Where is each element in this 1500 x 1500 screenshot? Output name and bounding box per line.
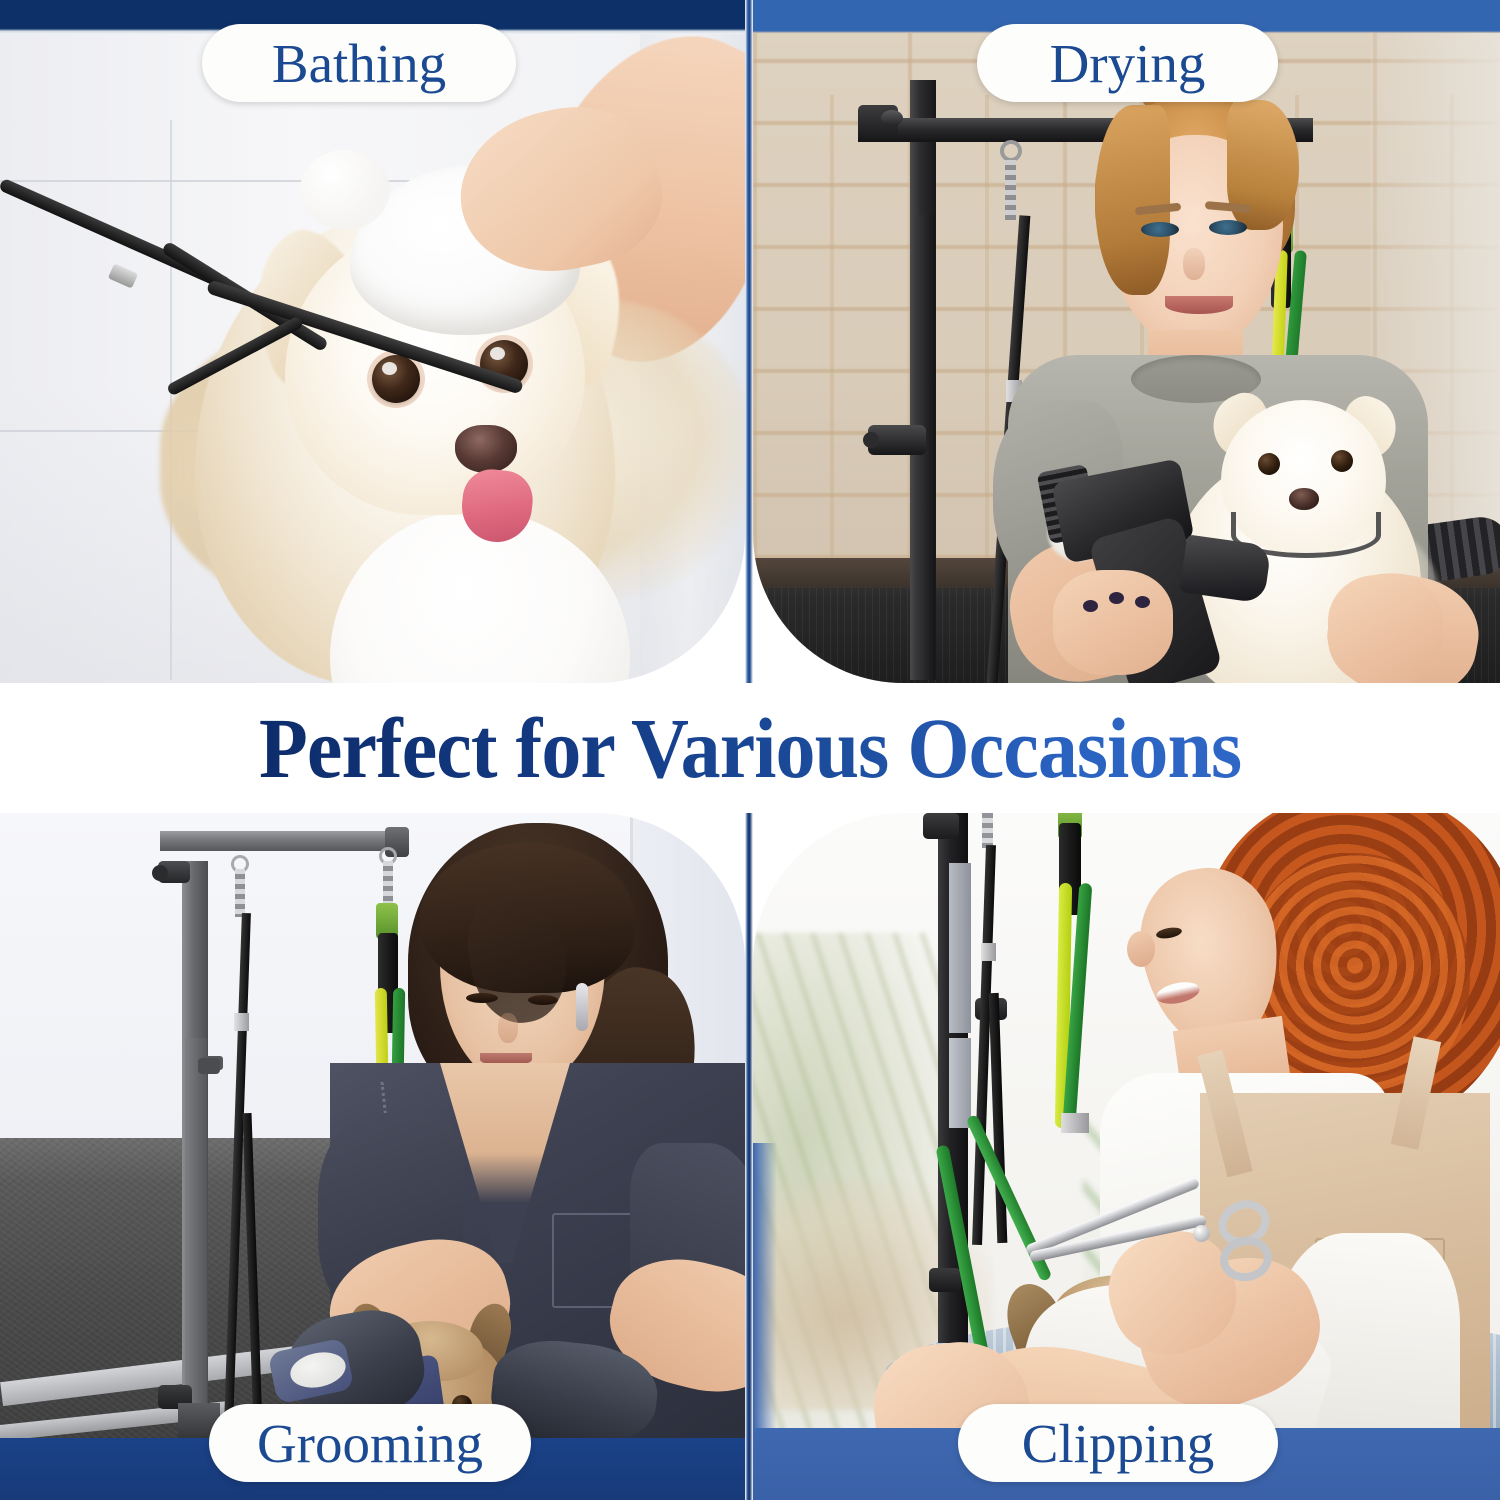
groomer-hand-left bbox=[1053, 570, 1173, 675]
grooming-arm-crossbar bbox=[160, 831, 405, 851]
clipping-photo bbox=[753, 813, 1500, 1500]
dog-nose bbox=[455, 425, 517, 473]
strap-metal-ferrule bbox=[981, 943, 996, 961]
label-grooming: Grooming bbox=[209, 1404, 531, 1482]
fingernail bbox=[1135, 596, 1150, 608]
label-bathing: Bathing bbox=[202, 24, 516, 102]
groomer-hair-left bbox=[1095, 105, 1170, 295]
hook-chain-left bbox=[982, 813, 993, 848]
groomer-hand-right bbox=[1328, 575, 1443, 683]
dog-eye-left bbox=[1258, 453, 1280, 475]
drying-photo bbox=[753, 0, 1500, 683]
fingernail bbox=[1109, 592, 1124, 604]
dog-nose bbox=[1289, 488, 1319, 510]
panel-bathing bbox=[0, 0, 745, 683]
groomer-eye-right bbox=[1209, 220, 1247, 235]
product-feature-collage: Perfect for Various Occasions Bathing Dr… bbox=[0, 0, 1500, 1500]
strap-metal-ferrule bbox=[234, 1013, 249, 1031]
hanging-hook-left bbox=[1000, 140, 1022, 162]
hook-chain-left bbox=[1005, 160, 1016, 220]
hook-chain-right bbox=[383, 861, 393, 906]
label-bathing-text: Bathing bbox=[272, 36, 446, 91]
headline-band: Perfect for Various Occasions bbox=[0, 683, 1500, 813]
adjust-knob-icon bbox=[929, 1268, 961, 1292]
label-clipping-text: Clipping bbox=[1022, 1416, 1215, 1471]
grooming-arm-post-inner bbox=[185, 1038, 207, 1438]
dog-eye-right bbox=[1331, 450, 1353, 472]
label-drying-text: Drying bbox=[1050, 36, 1206, 91]
groomer-ear bbox=[1127, 931, 1155, 967]
groomer-eye-left bbox=[466, 993, 498, 1003]
adjust-knob-icon bbox=[152, 865, 168, 881]
panel-divider-top bbox=[745, 0, 753, 683]
hook-chain-left bbox=[235, 869, 245, 917]
scissors-pivot-screw bbox=[1193, 1225, 1210, 1242]
adjust-knob-icon bbox=[863, 432, 879, 448]
panel-drying bbox=[753, 0, 1500, 683]
grooming-arm-post-inner-lower bbox=[949, 1038, 971, 1128]
groomer-nose bbox=[498, 1013, 518, 1043]
tile-seam-vertical bbox=[170, 120, 172, 680]
label-drying: Drying bbox=[977, 24, 1278, 102]
page-title: Perfect for Various Occasions bbox=[259, 705, 1241, 791]
noose-metal-ferrule bbox=[1061, 1113, 1089, 1133]
groomer-eye-left bbox=[1141, 222, 1179, 237]
soap-foam-blob bbox=[300, 150, 390, 230]
bathing-photo bbox=[0, 0, 745, 683]
panel-grooming bbox=[0, 813, 745, 1500]
groomer-earring bbox=[576, 983, 588, 1031]
grooming-arm-post-inner bbox=[949, 863, 971, 1033]
adjust-knob-icon bbox=[881, 110, 903, 126]
dog-eye-glint-left bbox=[382, 362, 397, 375]
label-clipping: Clipping bbox=[958, 1404, 1278, 1482]
groomer-mouth bbox=[1165, 296, 1233, 314]
panel-divider-bottom bbox=[745, 813, 753, 1500]
groomer-nose bbox=[1183, 248, 1205, 280]
fingernail bbox=[1083, 600, 1098, 612]
grooming-arm-clamp bbox=[923, 813, 959, 839]
dog-eye-glint-right bbox=[490, 347, 505, 360]
blue-edge-glow bbox=[753, 1143, 777, 1473]
dog-eye-left bbox=[372, 355, 420, 403]
label-grooming-text: Grooming bbox=[257, 1416, 483, 1471]
grooming-photo bbox=[0, 813, 745, 1500]
adjust-knob-icon bbox=[198, 1058, 220, 1074]
groomer-eye-right bbox=[528, 995, 558, 1005]
panel-clipping bbox=[753, 813, 1500, 1500]
